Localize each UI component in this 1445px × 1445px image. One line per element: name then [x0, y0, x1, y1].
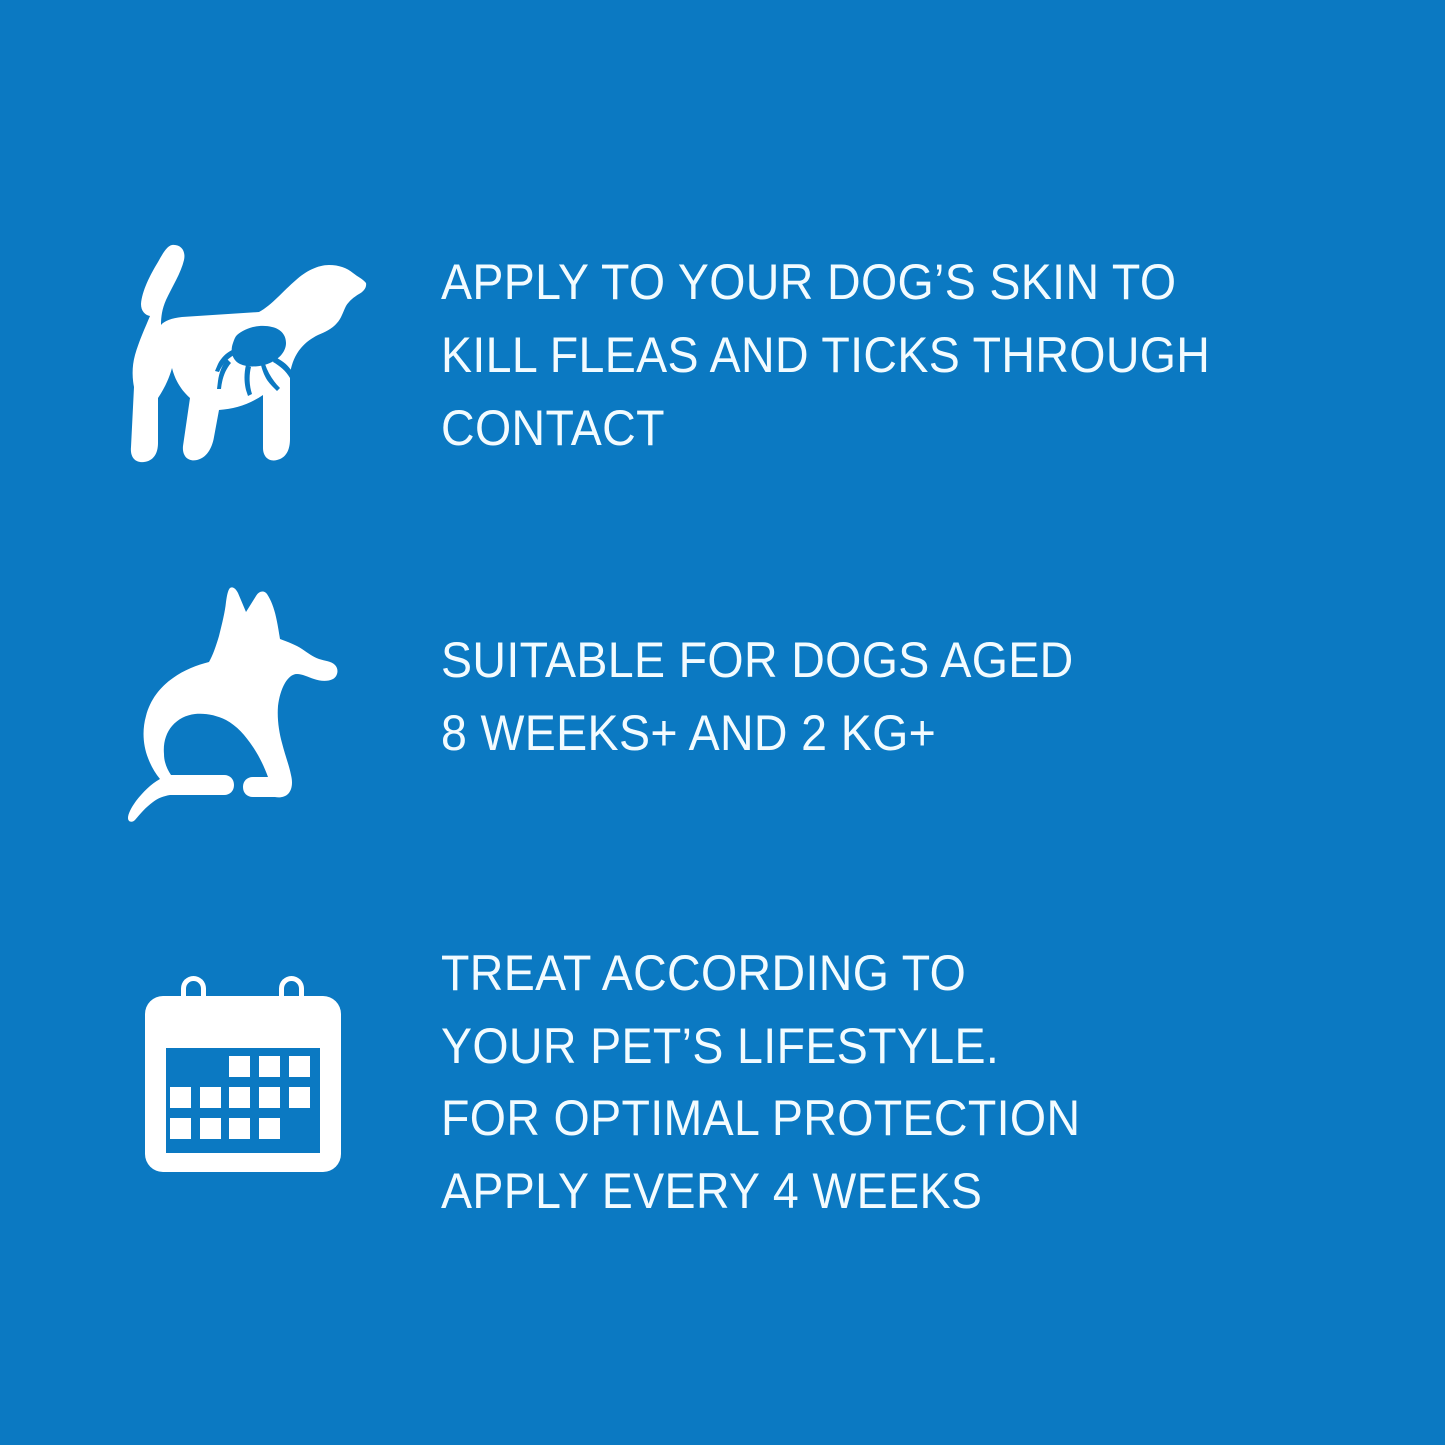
feature-text-apply-to-skin: APPLY TO YOUR DOG’S SKIN TO KILL FLEAS A… [441, 246, 1297, 465]
feature-text-treat-according-to-lifestyle: TREAT ACCORDING TO YOUR PET’S LIFESTYLE.… [441, 937, 1297, 1227]
dog-with-flea-icon [120, 243, 368, 465]
instructions-panel: APPLY TO YOUR DOG’S SKIN TO KILL FLEAS A… [0, 0, 1445, 1445]
sitting-puppy-icon [128, 586, 340, 824]
feature-text-suitable-for-dogs: SUITABLE FOR DOGS AGED 8 WEEKS+ AND 2 KG… [441, 624, 1297, 770]
calendar-icon [145, 976, 341, 1172]
